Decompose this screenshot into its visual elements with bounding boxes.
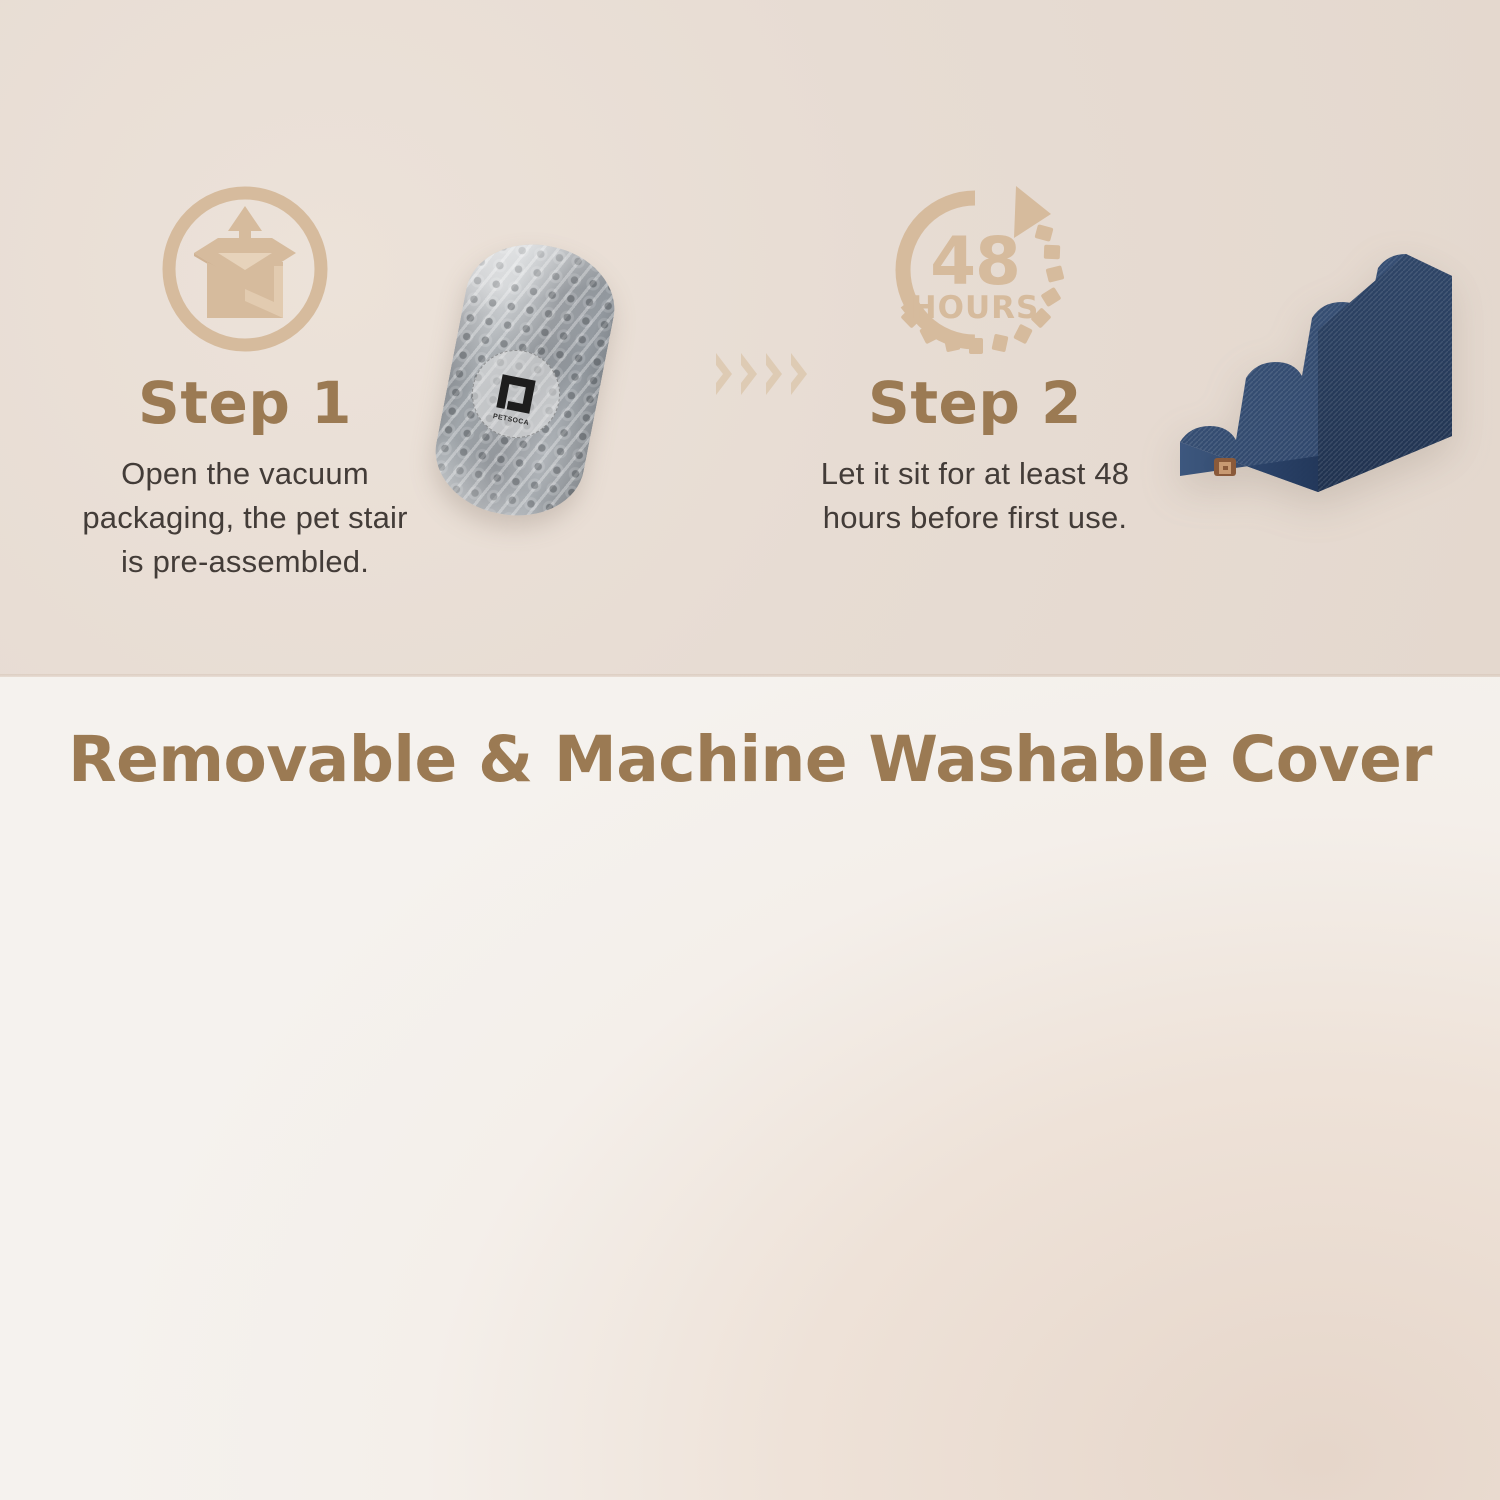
step-1-title: Step 1 xyxy=(30,374,460,432)
step-2-title: Step 2 xyxy=(760,374,1190,432)
page-title: Removable & Machine Washable Cover xyxy=(0,728,1500,791)
step-2-description: Let it sit for at least 48 hours before … xyxy=(760,452,1190,540)
chevron-right-icon xyxy=(739,350,759,398)
chevron-right-icon xyxy=(714,350,734,398)
48-hours-unit: HOURS xyxy=(910,290,1039,326)
48-hours-number: 48 xyxy=(930,223,1020,300)
step-2-block: 48 HOURS Step 2 Let it sit for at least … xyxy=(760,180,1190,540)
blue-pet-stair xyxy=(1168,246,1468,508)
step-1-block: Step 1 Open the vacuum packaging, the pe… xyxy=(30,180,460,584)
product-infographic: Step 1 Open the vacuum packaging, the pe… xyxy=(0,0,1500,1500)
48-hours-clock-icon: 48 HOURS xyxy=(760,180,1190,358)
washable-cover-section: Removable & Machine Washable Cover Durab… xyxy=(0,677,1500,1500)
open-box-icon xyxy=(30,180,460,358)
setup-steps-section: Step 1 Open the vacuum packaging, the pe… xyxy=(0,0,1500,677)
step-1-description: Open the vacuum packaging, the pet stair… xyxy=(30,452,460,584)
brand-logo-icon xyxy=(491,369,540,418)
vacuum-packed-roll: PETSOCA xyxy=(418,238,658,528)
